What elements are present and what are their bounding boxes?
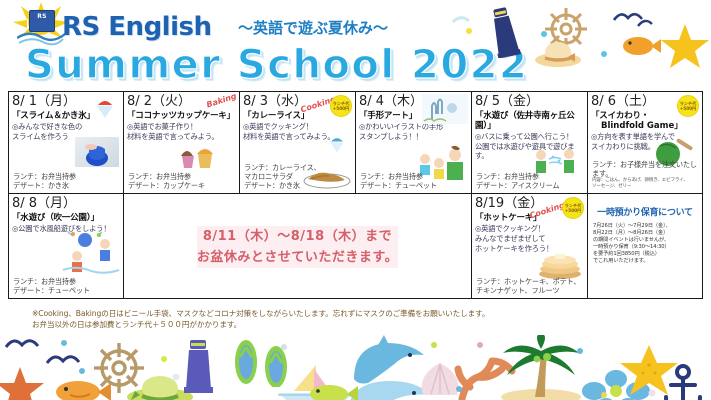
cell-lunch-line: ランチ：ホットケーキ、ポテト、: [476, 277, 580, 286]
straw-hat-icon: [534, 38, 582, 68]
temporary-childcare-info-cell: 一時預かり保育について 7月26日（火）～7月29日（金）、 8月22日（月）～…: [588, 194, 703, 299]
slime-photo: [75, 137, 119, 167]
calendar-row-2: 8/ 8（月） 「水遊び（吹一公園）」 ◎公園で水風船遊びをしよう！ ランチ：お…: [8, 194, 703, 299]
cell-lunch-line: チキンナゲット、フルーツ: [476, 286, 580, 295]
badge-line2: +500円: [565, 208, 581, 213]
calendar-cell-0802[interactable]: 8/ 2（火） Baking 「ココナッツカップケーキ」 ◎英語でお菓子作り！ …: [124, 91, 240, 194]
cell-lunch-line: ランチ：お弁当持参: [128, 172, 205, 181]
lunch-fee-badge: ランチ代 +500円: [677, 95, 699, 117]
footer-note-line-2: お弁当以外の日は参加費とランチ代＋５００円がかかります。: [32, 319, 682, 330]
dot-decor-icon: [60, 339, 68, 347]
info-line: 8月22日（月）～8月26日（金）: [593, 230, 697, 237]
pancake-icon: [537, 252, 583, 280]
info-line: 一時預かり保育（9:30～14:30）: [593, 244, 697, 251]
lighthouse-icon: [178, 337, 220, 395]
dot-decor-icon: [455, 385, 463, 393]
cell-lunch: ランチ：お弁当持参 デザート：カップケーキ: [128, 172, 205, 190]
cell-lunch-line: デザート：チューペット: [13, 286, 90, 295]
event-calendar: 8/ 1（月） 「スライム＆かき氷」 ◎みんなで好きな色の スライムを作ろう ラ…: [8, 91, 703, 303]
calendar-row-1: 8/ 1（月） 「スライム＆かき氷」 ◎みんなで好きな色の スライムを作ろう ラ…: [8, 91, 703, 194]
calendar-cell-0805[interactable]: 8/ 5（金） 「水遊び（佐井寺南ヶ丘公園）」 ◎バスに乗って公園へ行こう！ 公…: [472, 91, 588, 194]
holiday-notice: 8/11（木）～8/18（木）まで お盆休みとさせていただきます。: [197, 226, 398, 268]
info-line: でこれ用いただけます。: [593, 258, 697, 265]
holiday-line-1: 8/11（木）～8/18（木）まで: [197, 226, 398, 247]
dot-decor-icon: [576, 347, 584, 355]
cell-desc-line: スタンプしよう！！: [359, 132, 468, 141]
cell-lunch: ランチ：お弁当持参 デザート：チューペット: [360, 172, 437, 190]
badge-line2: +500円: [680, 106, 696, 111]
cell-desc-line: ◎英語でクッキング！: [243, 122, 352, 131]
cell-lunch: ランチ：カレーライス、 マカロニサラダ デザート：かき氷: [244, 163, 321, 190]
cell-lunch-detail: ソーセージ、ゼリー: [592, 184, 702, 190]
lighthouse-icon: [487, 6, 521, 58]
cell-lunch-line: デザート：カップケーキ: [128, 181, 205, 190]
dot-decor-icon: [476, 341, 484, 349]
shaved-ice-icon: [93, 96, 117, 120]
dot-decor-icon: [280, 343, 288, 351]
cell-lunch-line: ランチ：お弁当持参: [13, 277, 90, 286]
dot-decor-icon: [464, 26, 474, 36]
cell-lunch-line: デザート：アイスクリーム: [476, 181, 559, 190]
lunch-fee-badge: ランチ代 +500円: [330, 95, 352, 117]
cell-lunch-line: ランチ：お弁当持参: [476, 172, 559, 181]
cell-lunch: ランチ：お子様弁当を注文いたします。 内容：ごはん、からあげ、卵焼き、エビフライ…: [592, 160, 702, 190]
cell-lunch-line: ランチ：お弁当持参: [13, 172, 76, 181]
footer-note-line-1: ※Cooking、Bakingの日はビニール手袋、マスクなどコロナ対策をしながら…: [32, 308, 682, 319]
cell-lunch-line: ランチ：カレーライス、: [244, 163, 321, 172]
cell-date: 8/ 8（月）: [12, 196, 120, 211]
page-header: RS RS English ～英語で遊ぶ夏休み～ Summer School 2…: [0, 0, 711, 88]
dot-decor-icon: [600, 50, 608, 58]
info-line: を要予約1回3850円（税込）: [593, 251, 697, 258]
calendar-cell-0806[interactable]: 8/ 6（土） ランチ代 +500円 「スイカわり・ Blindfold Gam…: [588, 91, 703, 194]
cupcake-icon: [179, 142, 223, 170]
main-title: Summer School 2022: [25, 42, 528, 88]
cell-desc-line: ◎英語でクッキング！: [475, 224, 584, 233]
calendar-cell-0804[interactable]: 8/ 4（木） 「手形アート」 ◎かわいいイラストの手形 スタンプしよう！！ ラ…: [356, 91, 472, 194]
dot-decor-icon: [540, 30, 549, 39]
cell-desc-line: ◎バスに乗って公園へ行こう！: [475, 132, 584, 141]
fish-icon: [305, 381, 359, 400]
brand-title: RS English: [62, 12, 212, 42]
lunch-fee-badge: ランチ代 +500円: [562, 197, 584, 219]
water-balloon-icon: [59, 230, 121, 274]
cell-desc-line: 材料を英語で言ってみよう。: [127, 132, 236, 141]
dot-decor-icon: [430, 341, 438, 349]
cell-desc-line: みんなでまぜまぜして: [475, 234, 584, 243]
dot-decor-icon: [648, 389, 657, 398]
dot-decor-icon: [160, 355, 168, 363]
info-line: 7月26日（火）～7月29日（金）、: [593, 223, 697, 230]
bottom-decoration-band: [0, 333, 711, 400]
anchor-icon: [660, 363, 706, 400]
cell-title-2: Blindfold Game」: [591, 121, 699, 131]
handprint-photo: [422, 94, 468, 124]
holiday-line-2: お盆休みとさせていただきます。: [197, 247, 398, 268]
info-title: 一時預かり保育について: [591, 205, 699, 218]
info-line: の期間イベントは行いませんが、: [593, 237, 697, 244]
calendar-cell-0819[interactable]: 8/19（金） Cooking ランチ代 +500円 「ホットケーキ」 ◎英語で…: [472, 194, 588, 299]
cell-lunch: ランチ：お弁当持参 デザート：かき氷: [13, 172, 76, 190]
cell-lunch: ランチ：お弁当持参 デザート：アイスクリーム: [476, 172, 559, 190]
cell-lunch: ランチ：ホットケーキ、ポテト、 チキンナゲット、フルーツ: [476, 277, 580, 295]
cell-lunch-line: ランチ：お弁当持参: [360, 172, 437, 181]
cell-lunch-line: デザート：かき氷: [244, 181, 321, 190]
seagulls-icon: [612, 8, 660, 30]
cell-lunch-line: ランチ：お子様弁当を注文いたします。: [592, 160, 702, 178]
cell-lunch-line: デザート：かき氷: [13, 181, 76, 190]
cell-lunch-line: デザート：チューペット: [360, 181, 437, 190]
shaved-ice-icon: [327, 134, 347, 154]
palm-tree-island-icon: [497, 335, 585, 400]
cell-date: 8/ 5（金）: [475, 94, 584, 109]
cell-title: 「水遊び（吹一公園）」: [12, 213, 120, 223]
seagulls-icon: [45, 349, 91, 369]
footer-note: ※Cooking、Bakingの日はビニール手袋、マスクなどコロナ対策をしながら…: [32, 308, 682, 330]
cell-lunch: ランチ：お弁当持参 デザート：チューペット: [13, 277, 90, 295]
dot-decor-icon: [600, 391, 608, 399]
cell-lunch-line: マカロニサラダ: [244, 172, 321, 181]
subtitle: ～英語で遊ぶ夏休み～: [238, 17, 388, 38]
calendar-cell-0808[interactable]: 8/ 8（月） 「水遊び（吹一公園）」 ◎公園で水風船遊びをしよう！ ランチ：お…: [8, 194, 124, 299]
info-body: 7月26日（火）～7月29日（金）、 8月22日（月）～8月26日（金） の期間…: [591, 223, 699, 265]
calendar-cell-0803[interactable]: 8/ 3（水） Cooking ランチ代 +500円 「カレーライス」 ◎英語で…: [240, 91, 356, 194]
cell-desc-line: ◎英語でお菓子作り！: [127, 122, 236, 131]
calendar-cell-0801[interactable]: 8/ 1（月） 「スライム＆かき氷」 ◎みんなで好きな色の スライムを作ろう ラ…: [8, 91, 124, 194]
obon-holiday-cell: 8/11（木）～8/18（木）まで お盆休みとさせていただきます。: [124, 194, 472, 299]
badge-line2: +500円: [333, 106, 349, 111]
fish-icon: [621, 30, 661, 62]
dot-decor-icon: [172, 373, 181, 382]
cell-title: 「水遊び（佐井寺南ヶ丘公園）」: [475, 111, 584, 131]
sand-swirl-icon: [452, 12, 470, 26]
starfish-icon: [0, 365, 46, 400]
cell-title: 「ココナッツカップケーキ」: [127, 111, 236, 121]
dot-decor-icon: [78, 367, 86, 375]
cell-desc-line: ◎みんなで好きな色の: [12, 122, 120, 131]
starfish-icon: [660, 22, 710, 70]
